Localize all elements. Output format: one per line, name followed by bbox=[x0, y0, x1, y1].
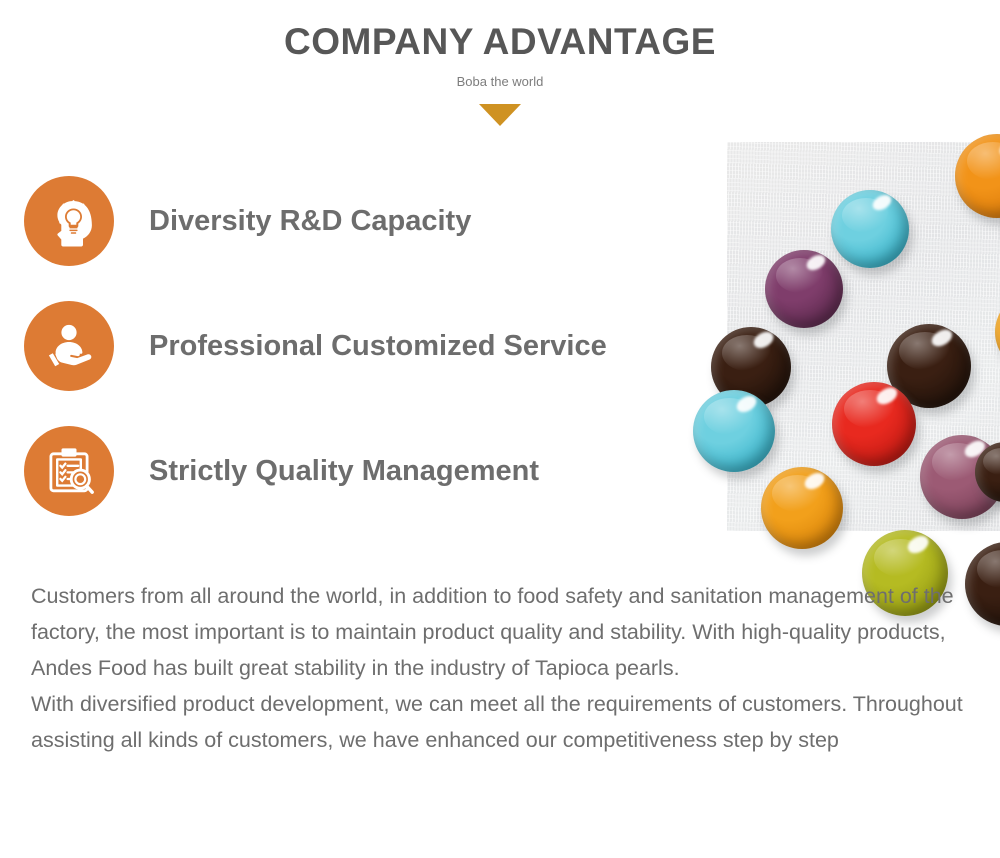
person-in-hand-service-icon bbox=[24, 301, 114, 391]
pearl bbox=[832, 382, 916, 466]
tapioca-pearls-photo bbox=[727, 142, 1000, 531]
pearl bbox=[765, 250, 843, 328]
triangle-down-icon bbox=[479, 104, 521, 126]
feature-item-rd[interactable]: Diversity R&D Capacity bbox=[24, 158, 714, 283]
body-copy: Customers from all around the world, in … bbox=[31, 578, 966, 758]
clipboard-checklist-magnifier-icon bbox=[24, 426, 114, 516]
head-lightbulb-idea-icon bbox=[24, 176, 114, 266]
paragraph-product-development: With diversified product development, we… bbox=[31, 686, 966, 758]
feature-item-quality[interactable]: Strictly Quality Management bbox=[24, 408, 714, 533]
pearl bbox=[831, 190, 909, 268]
feature-item-service[interactable]: Professional Customized Service bbox=[24, 283, 714, 408]
feature-label: Professional Customized Service bbox=[149, 328, 607, 364]
paragraph-quality-stability: Customers from all around the world, in … bbox=[31, 578, 966, 686]
pearl bbox=[693, 390, 775, 472]
pearl bbox=[965, 542, 1000, 626]
feature-label: Diversity R&D Capacity bbox=[149, 203, 471, 239]
page-title: COMPANY ADVANTAGE bbox=[0, 20, 1000, 64]
feature-label: Strictly Quality Management bbox=[149, 453, 539, 489]
page-header: COMPANY ADVANTAGE Boba the world bbox=[0, 0, 1000, 126]
feature-list: Diversity R&D Capacity Professional Cust… bbox=[24, 158, 714, 533]
pearl bbox=[761, 467, 843, 549]
page-subtitle: Boba the world bbox=[0, 72, 1000, 92]
